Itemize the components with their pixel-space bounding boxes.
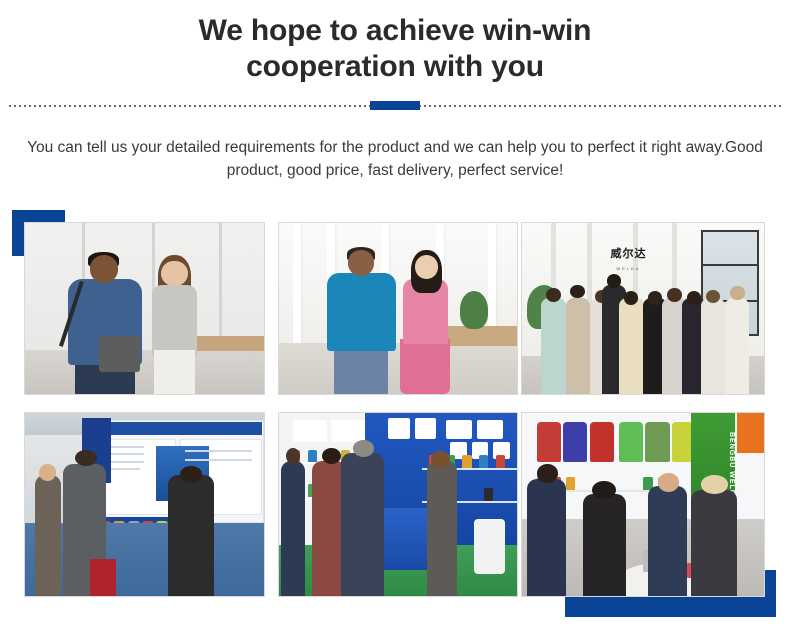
person-head [730, 286, 745, 300]
photo-1-scene [25, 223, 264, 394]
glove-graphic [645, 422, 669, 462]
board-text-line [185, 459, 252, 461]
display-glove [308, 450, 318, 463]
glove-graphic [590, 422, 614, 462]
visitor-body [427, 461, 458, 596]
booth-poster [446, 420, 472, 438]
hall-floor [279, 343, 517, 394]
visitor-body [341, 453, 384, 596]
visitor-body [35, 475, 61, 596]
window-mullion [701, 264, 759, 266]
visitor-body [281, 461, 305, 596]
shoulder-bag [99, 336, 140, 372]
booth-chair[interactable] [474, 519, 505, 574]
photo-3-scene: 威尔达 WELDA [522, 223, 764, 394]
person-body [566, 298, 590, 394]
wall-seam [219, 223, 222, 350]
wall-logo-chinese: 威尔达 [595, 245, 663, 267]
photo-2-scene [279, 223, 517, 394]
booth-counter [384, 508, 432, 570]
photo-gallery: 威尔达 WELDA [0, 0, 790, 631]
gallery-photo-2[interactable] [278, 222, 518, 395]
person-body [725, 298, 749, 394]
display-glove [566, 477, 576, 490]
attendee-head [537, 464, 559, 482]
person-head [687, 291, 702, 305]
display-glove [462, 455, 472, 468]
attendee-body [583, 494, 627, 596]
expo-carpet [25, 523, 264, 596]
attendee-body [648, 486, 687, 596]
woman-head [161, 261, 187, 287]
glove-graphic [619, 422, 643, 462]
visitor-head [39, 464, 56, 480]
lobby-wall [25, 223, 264, 350]
visitor-body [168, 475, 213, 596]
glove-graphic [537, 422, 561, 462]
visitor-head [180, 466, 202, 482]
board-text-line [185, 450, 252, 452]
booth-poster [477, 420, 503, 438]
visitor-head [322, 448, 341, 464]
red-tote-bag [90, 559, 116, 596]
man-polo-shirt [327, 273, 396, 352]
woman-skirt [400, 339, 450, 394]
gallery-photo-5[interactable] [278, 412, 518, 597]
person-head [607, 274, 622, 288]
person-body [541, 298, 565, 394]
win-win-cooperation-section: We hope to achieve win-win cooperation w… [0, 0, 790, 631]
wall-logo-latin: WELDA [595, 266, 663, 280]
display-glove [479, 455, 489, 468]
person-body [701, 298, 725, 394]
lobby-floor [25, 350, 264, 394]
photo-5-scene [279, 413, 517, 596]
man-head [90, 255, 119, 282]
person-head [546, 288, 561, 302]
person-body [619, 298, 646, 394]
orange-banner [737, 413, 764, 453]
gallery-photo-1[interactable] [24, 222, 265, 395]
woman-trousers [154, 350, 195, 394]
booth-poster [388, 418, 409, 438]
photo-4-scene [25, 413, 264, 596]
person-head [624, 291, 639, 305]
booth-poster [415, 418, 436, 438]
visitor-head [75, 450, 97, 466]
person-head [667, 288, 682, 302]
glove-graphic [563, 422, 587, 462]
man-jeans [334, 346, 389, 394]
person-head [570, 285, 585, 299]
attendee-head [658, 473, 680, 491]
potted-plant [460, 291, 489, 329]
gallery-photo-6[interactable]: BENGBU WELDING [521, 412, 765, 597]
man-head [348, 250, 374, 276]
booth-poster [331, 420, 364, 442]
attendee-body [527, 479, 566, 596]
gallery-photo-4[interactable] [24, 412, 265, 597]
wall-column [293, 223, 301, 343]
attendee-body [691, 490, 737, 596]
attendee-head [701, 475, 728, 493]
visitor-head [353, 440, 374, 456]
display-glove [484, 488, 494, 501]
photo-6-scene: BENGBU WELDING [522, 413, 764, 596]
woman-top [152, 285, 197, 357]
board-header-strip [94, 422, 261, 435]
display-glove [496, 455, 506, 468]
booth-poster [293, 420, 326, 442]
gallery-photo-3[interactable]: 威尔达 WELDA [521, 222, 765, 395]
